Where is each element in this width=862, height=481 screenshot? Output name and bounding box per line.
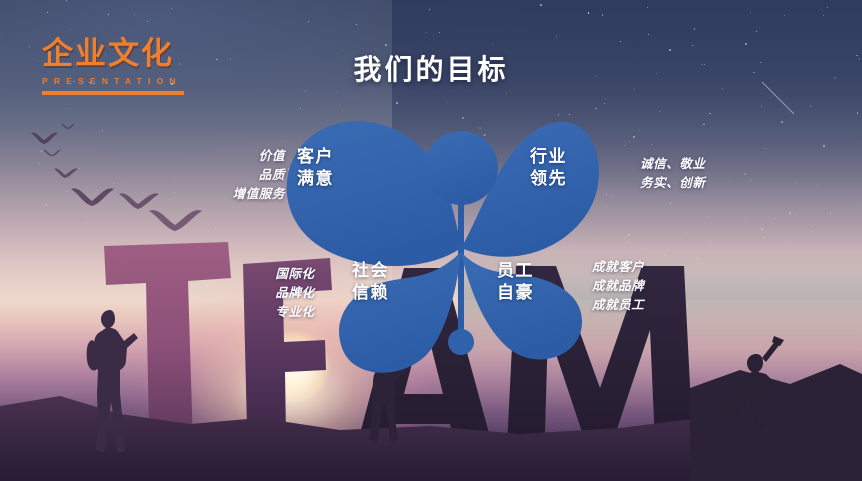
presentation-slide: 企业文化 PRESENTATION 我们的目标 (0, 0, 862, 481)
petal-label-top-left: 客户 满意 (297, 146, 334, 190)
caption-bottom-left: 国际化 品牌化 专业化 (255, 265, 335, 322)
petal-label-line2: 自豪 (497, 282, 534, 304)
petal-label-line1: 社会 (352, 260, 389, 282)
diagram-bottom-node (448, 329, 474, 355)
caption-top-left: 价值 品质 增值服务 (205, 147, 285, 204)
petal-label-bottom-right: 员工 自豪 (497, 260, 534, 304)
petal-label-line1: 客户 (297, 146, 334, 168)
climber-silhouette-icon (722, 334, 784, 444)
petal-label-top-right: 行业 领先 (530, 146, 567, 190)
birds-icon (60, 122, 76, 130)
diagram-center-circle (424, 131, 498, 205)
petal-label-line1: 行业 (530, 146, 567, 168)
caption-bottom-right: 成就客户 成就品牌 成就员工 (592, 258, 684, 315)
birds-icon (70, 185, 116, 207)
birds-icon (148, 206, 203, 232)
caption-top-right: 诚信、敬业 务实、创新 (640, 155, 744, 193)
hiker-silhouette-icon (86, 308, 142, 458)
birds-icon (30, 130, 60, 146)
petal-label-line2: 信赖 (352, 282, 389, 304)
petal-label-line2: 满意 (297, 168, 334, 190)
petal-label-line1: 员工 (497, 260, 534, 282)
birds-icon (42, 148, 62, 157)
petal-label-line2: 领先 (530, 168, 567, 190)
brand-logo-underline (42, 91, 184, 95)
birds-icon (53, 166, 79, 179)
page-title: 我们的目标 (0, 48, 862, 88)
petal-label-bottom-left: 社会 信赖 (352, 260, 389, 304)
